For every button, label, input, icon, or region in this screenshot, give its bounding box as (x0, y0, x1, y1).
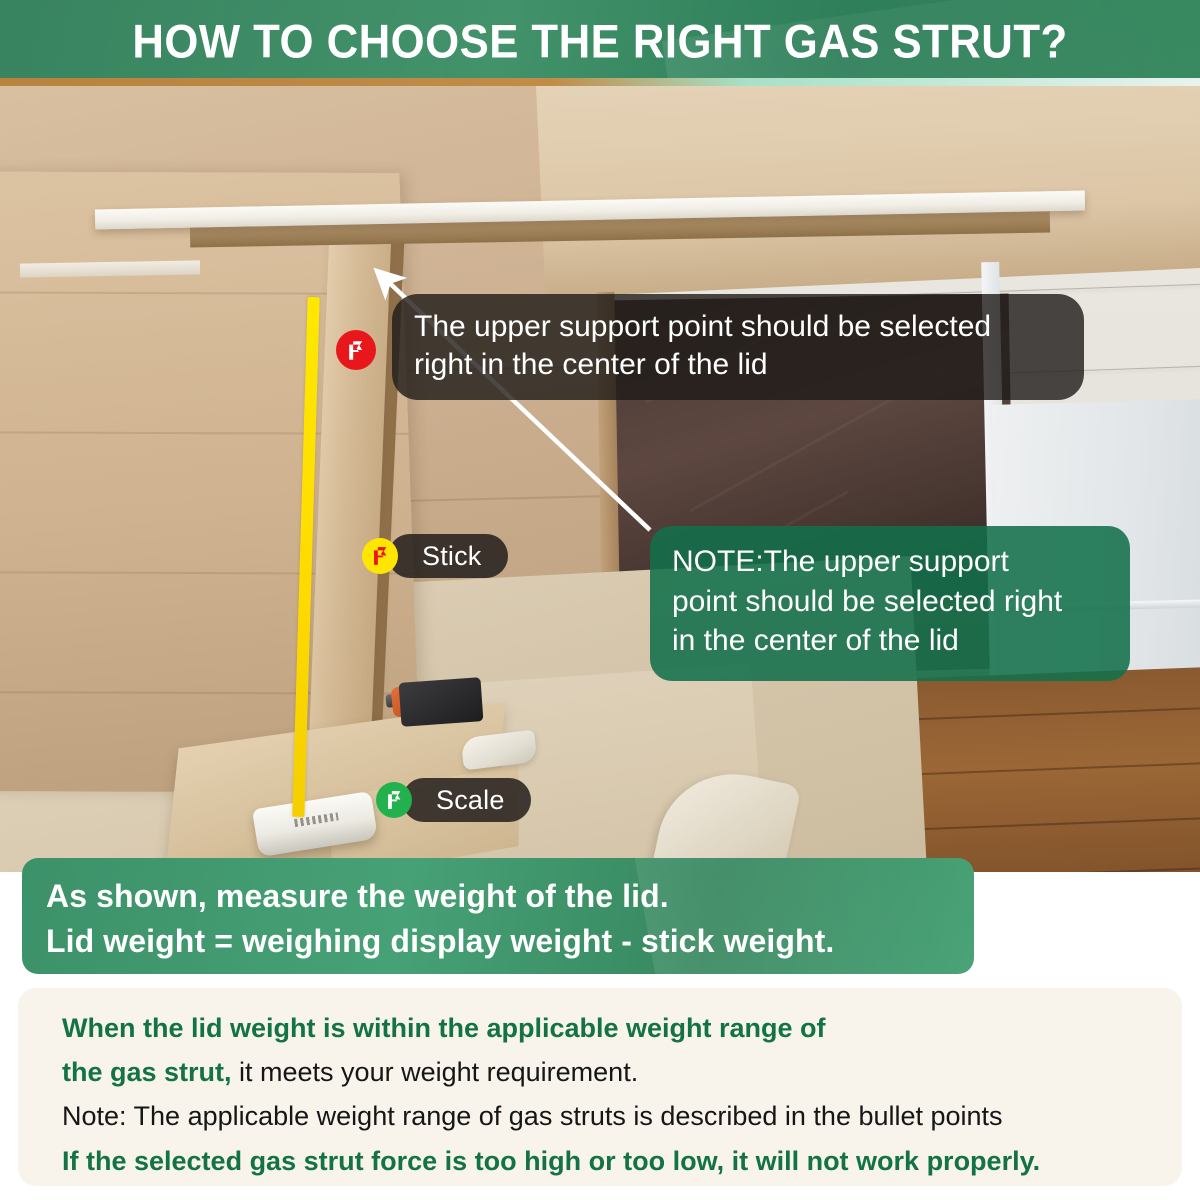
header-accent-strip (0, 78, 1200, 86)
flag-icon (385, 790, 404, 810)
callout-upper-support-point: The upper support point should be select… (392, 294, 1084, 400)
cordless-drill (399, 677, 484, 727)
info-line-1: When the lid weight is within the applic… (62, 1006, 1154, 1051)
summary-line-1: As shown, measure the weight of the lid. (46, 874, 950, 919)
header-banner: HOW TO CHOOSE THE RIGHT GAS STRUT? (0, 0, 1200, 82)
marker-label-stick: Stick (388, 534, 508, 578)
info-line-2-green: the gas strut, (62, 1057, 232, 1087)
page-title: HOW TO CHOOSE THE RIGHT GAS STRUT? (42, 18, 1158, 65)
info-line-3: Note: The applicable weight range of gas… (62, 1094, 1154, 1139)
callout-dark-line-2: right in the center of the lid (414, 346, 1058, 384)
callout-note: NOTE:The upper support point should be s… (650, 526, 1130, 681)
flag-icon (346, 340, 366, 361)
scale-marker (376, 782, 412, 818)
info-line-2-black: it meets your weight requirement. (232, 1057, 639, 1087)
infographic-page: HOW TO CHOOSE THE RIGHT GAS STRUT? (0, 0, 1200, 1200)
upper-support-point-marker (336, 330, 376, 370)
plywood-top-panel (535, 82, 1200, 298)
flag-icon (371, 546, 390, 566)
info-line-4: If the selected gas strut force is too h… (62, 1139, 1154, 1184)
info-line-1-text: When the lid weight is within the applic… (62, 1013, 826, 1043)
callout-note-line-1: NOTE:The upper support (672, 542, 1108, 582)
callout-note-line-3: in the center of the lid (672, 621, 1108, 661)
stick-marker (362, 538, 398, 574)
info-line-3-text: Note: The applicable weight range of gas… (62, 1101, 1003, 1131)
info-line-2: the gas strut, it meets your weight requ… (62, 1051, 1154, 1094)
info-box: When the lid weight is within the applic… (18, 988, 1182, 1186)
summary-line-2: Lid weight = weighing display weight - s… (46, 919, 950, 964)
summary-box: As shown, measure the weight of the lid.… (22, 858, 974, 974)
info-line-4-text: If the selected gas strut force is too h… (62, 1146, 1040, 1176)
callout-dark-line-1: The upper support point should be select… (414, 308, 1058, 346)
callout-note-line-2: point should be selected right (672, 582, 1108, 622)
marker-label-scale: Scale (402, 778, 531, 822)
workshop-photo: The upper support point should be select… (0, 82, 1200, 872)
